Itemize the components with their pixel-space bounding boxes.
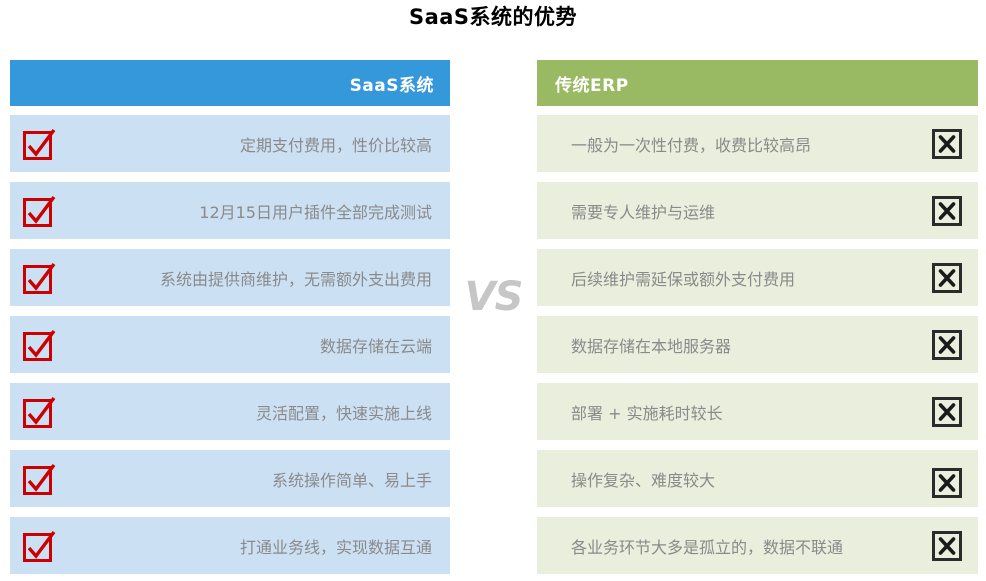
cross-icon (932, 129, 962, 159)
table-row-label: 需要专人维护与运维 (537, 199, 932, 223)
cross-icon (932, 531, 962, 561)
table-row[interactable]: 定期支付费用，性价比较高 (10, 115, 450, 172)
table-row[interactable]: 打通业务线，实现数据互通 (10, 517, 450, 574)
check-icon (22, 261, 56, 295)
table-row[interactable]: 各业务环节大多是孤立的，数据不联通 (537, 517, 978, 574)
check-icon (22, 462, 56, 496)
table-row-label: 数据存储在本地服务器 (537, 333, 932, 357)
cross-icon (932, 263, 962, 293)
table-row-label: 灵活配置，快速实施上线 (62, 400, 450, 424)
table-row-label: 系统操作简单、易上手 (62, 467, 450, 491)
erp-column-header: 传统ERP (537, 60, 978, 106)
check-icon (22, 127, 56, 161)
table-row[interactable]: 后续维护需延保或额外支付费用 (537, 249, 978, 306)
cross-icon (932, 330, 962, 360)
table-row[interactable]: 一般为一次性付费，收费比较高昂 (537, 115, 978, 172)
table-row-label: 部署 + 实施耗时较长 (537, 400, 932, 424)
erp-column: 传统ERP 一般为一次性付费，收费比较高昂 需要专人维护与运维 后续维护需延保或 (537, 60, 978, 574)
saas-column: SaaS系统 定期支付费用，性价比较高 12月15日用户插件全部完成测试 (10, 60, 450, 574)
table-row[interactable]: 数据存储在本地服务器 (537, 316, 978, 373)
saas-column-header-label: SaaS系统 (350, 71, 434, 96)
table-row-label: 各业务环节大多是孤立的，数据不联通 (537, 534, 932, 558)
versus-label: VS (450, 275, 537, 319)
table-row-label: 系统由提供商维护，无需额外支出费用 (62, 266, 450, 290)
table-row-label: 操作复杂、难度较大 (537, 467, 932, 491)
table-row-label: 打通业务线，实现数据互通 (62, 534, 450, 558)
page-title: SaaS系统的优势 (0, 2, 986, 32)
erp-column-header-label: 传统ERP (555, 71, 629, 96)
table-row[interactable]: 系统由提供商维护，无需额外支出费用 (10, 249, 450, 306)
saas-column-header: SaaS系统 (10, 60, 450, 106)
table-row[interactable]: 数据存储在云端 (10, 316, 450, 373)
check-icon (22, 194, 56, 228)
check-icon (22, 328, 56, 362)
check-icon (22, 529, 56, 563)
cross-icon (932, 397, 962, 427)
table-row[interactable]: 操作复杂、难度较大 (537, 450, 978, 507)
erp-row-list: 一般为一次性付费，收费比较高昂 需要专人维护与运维 后续维护需延保或额外支付费用 (537, 115, 978, 574)
table-row[interactable]: 12月15日用户插件全部完成测试 (10, 182, 450, 239)
table-row[interactable]: 系统操作简单、易上手 (10, 450, 450, 507)
table-row[interactable]: 灵活配置，快速实施上线 (10, 383, 450, 440)
table-row-label: 数据存储在云端 (62, 333, 450, 357)
check-icon (22, 395, 56, 429)
saas-row-list: 定期支付费用，性价比较高 12月15日用户插件全部完成测试 系统由提供商维护，无… (10, 115, 450, 574)
cross-icon (932, 196, 962, 226)
table-row[interactable]: 部署 + 实施耗时较长 (537, 383, 978, 440)
table-row-label: 一般为一次性付费，收费比较高昂 (537, 132, 932, 156)
table-row-label: 定期支付费用，性价比较高 (62, 132, 450, 156)
table-row-label: 后续维护需延保或额外支付费用 (537, 266, 932, 290)
table-row[interactable]: 需要专人维护与运维 (537, 182, 978, 239)
table-row-label: 12月15日用户插件全部完成测试 (62, 199, 450, 223)
cross-icon (932, 468, 962, 498)
